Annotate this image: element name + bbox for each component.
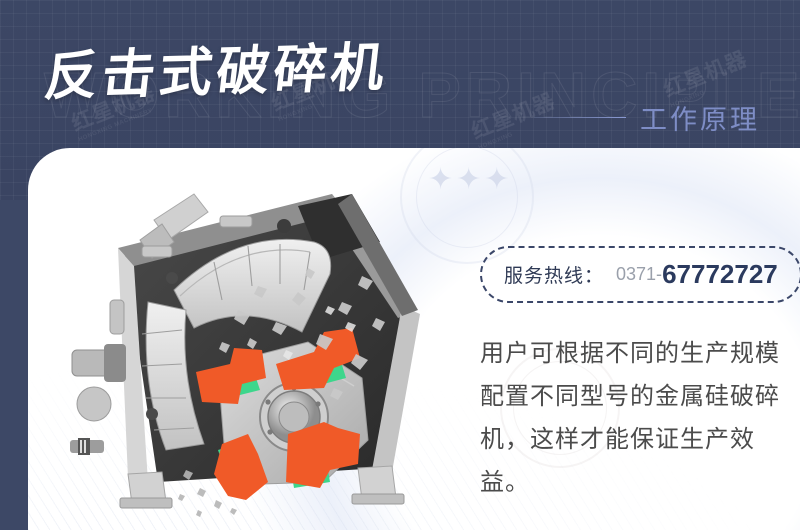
hotline-label: 服务热线：	[504, 261, 604, 288]
body-paragraph: 用户可根据不同的生产规模配置不同型号的金属硅破碎机，这样才能保证生产效益。	[480, 332, 780, 504]
header-subtitle: 工作原理	[640, 98, 760, 137]
page-title: 反击式破碎机	[41, 25, 393, 111]
impact-crusher-illustration	[62, 182, 462, 522]
hotline-phone-number: 67772727	[662, 259, 778, 290]
subtitle-dash-divider	[534, 117, 626, 118]
poster-canvas: 红星机器HONGXING MACHINERY 红星机器HONGXING 红星机器…	[0, 0, 800, 530]
hotline-badge[interactable]: 服务热线： 0371- 67772727	[480, 246, 800, 303]
hotline-area-code: 0371-	[616, 264, 662, 285]
blow-bar-right	[286, 422, 360, 488]
header-subtitle-group: 工作原理	[534, 98, 760, 137]
